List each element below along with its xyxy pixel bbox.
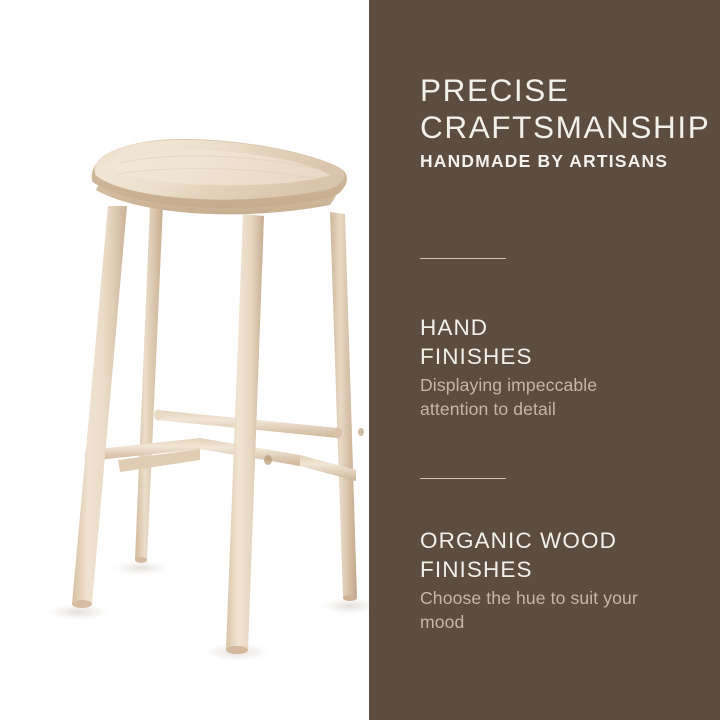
headline-block: PRECISE CRAFTSMANSHIP HANDMADE BY ARTISA… — [420, 72, 720, 172]
feature-divider — [420, 258, 506, 259]
headline-subtitle: HANDMADE BY ARTISANS — [420, 151, 720, 172]
feature-body-text: Choose the hue to suit your mood — [420, 586, 670, 634]
stool-illustration — [0, 0, 369, 720]
feature-divider — [420, 478, 506, 479]
feature-title-line-2: FINISHES — [420, 343, 720, 372]
joint-peg — [264, 455, 272, 465]
stool-product-image — [0, 0, 369, 720]
joint-peg — [358, 428, 364, 436]
feature-title-line-1: HAND — [420, 314, 720, 343]
feature-block-hand-finishes: HAND FINISHES Displaying impeccable atte… — [420, 258, 720, 421]
feature-title-line-2: FINISHES — [420, 556, 720, 585]
product-photo-panel — [0, 0, 369, 720]
marketing-copy-panel: PRECISE CRAFTSMANSHIP HANDMADE BY ARTISA… — [369, 0, 720, 720]
feature-title-line-1: ORGANIC WOOD — [420, 527, 720, 556]
headline-line-2: CRAFTSMANSHIP — [420, 109, 720, 146]
feature-body-text: Displaying impeccable attention to detai… — [420, 373, 660, 421]
promo-banner: PRECISE CRAFTSMANSHIP HANDMADE BY ARTISA… — [0, 0, 720, 720]
headline-line-1: PRECISE — [420, 72, 720, 109]
feature-block-organic-wood-finishes: ORGANIC WOOD FINISHES Choose the hue to … — [420, 478, 720, 634]
